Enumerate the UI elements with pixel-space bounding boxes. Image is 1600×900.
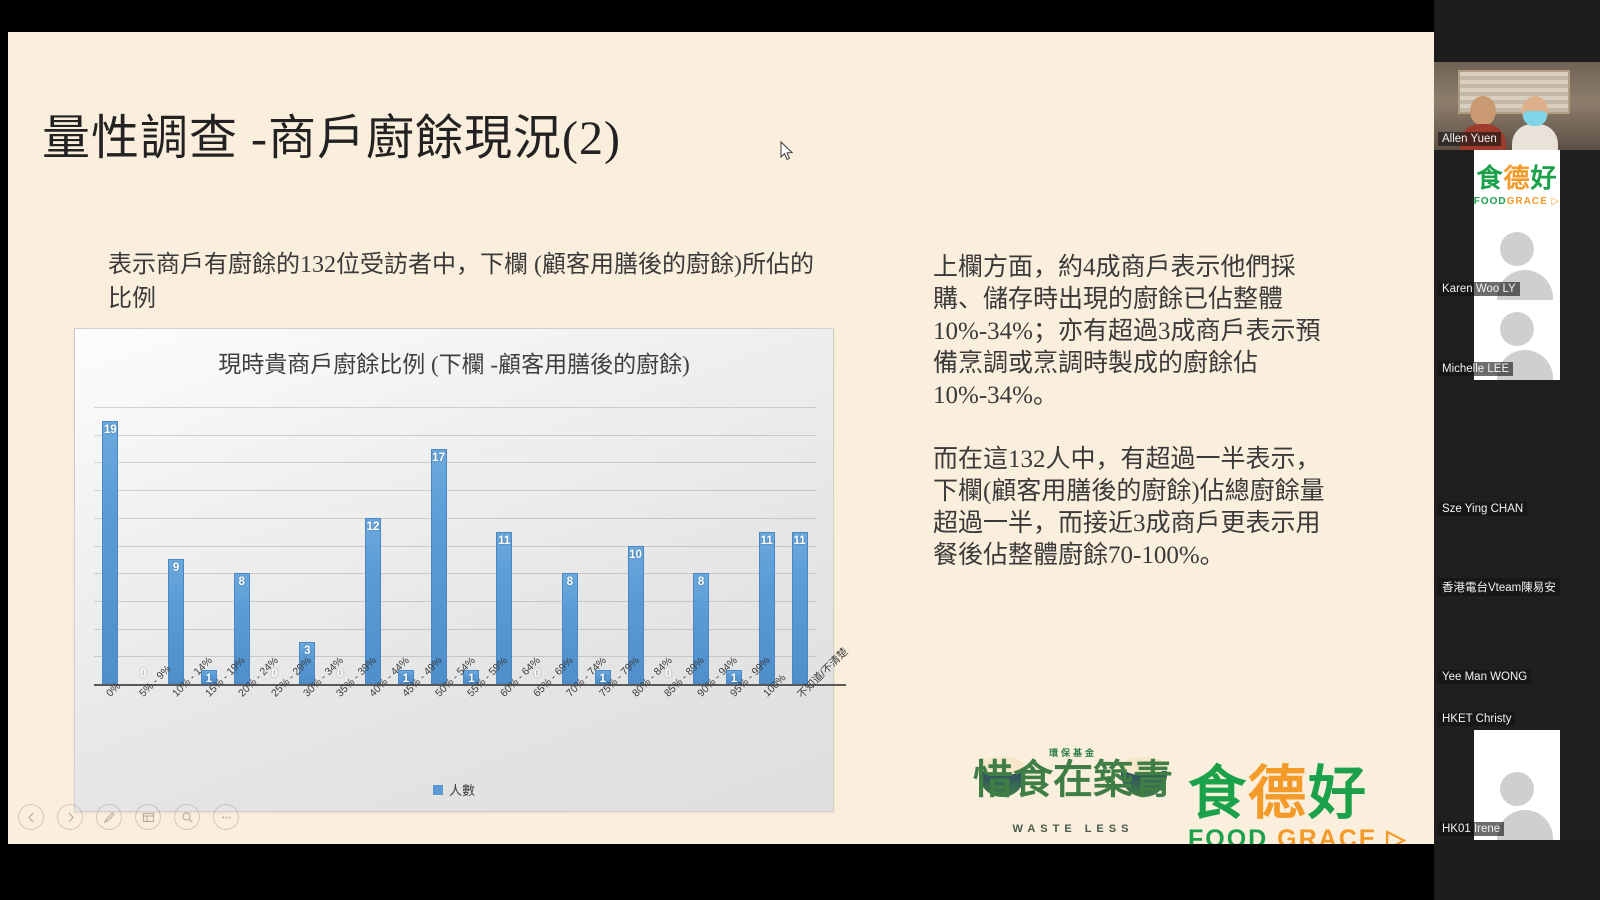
- left-intro-text: 表示商戶有廚餘的132位受訪者中，下欄 (顧客用膳後的廚餘)所佔的比例: [108, 248, 828, 316]
- chart-gridline: [94, 407, 816, 408]
- participant-tile[interactable]: HK01 Irene: [1434, 730, 1600, 840]
- food-grace-mark-icon: ▷: [1386, 825, 1407, 844]
- right-paragraph-1: 上欄方面，約4成商戶表示他們採購、儲存時出現的廚餘已佔整體10%-34%；亦有超…: [933, 252, 1333, 412]
- waste-less-logo-zh: 惜食在築青: [973, 759, 1173, 801]
- chart-bar-value: 19: [95, 424, 125, 436]
- more-options-button[interactable]: [213, 804, 239, 830]
- food-grace-en-food: FOOD: [1188, 825, 1268, 844]
- chart-bar-value: 12: [358, 521, 388, 533]
- chart-gridline: [94, 462, 816, 463]
- food-grace-logo-zh: 食德好: [1188, 762, 1434, 824]
- chart-bar: [102, 421, 118, 684]
- chart-gridline: [94, 518, 816, 519]
- participant-name: HK01 Irene: [1438, 822, 1504, 836]
- participant-name: 香港電台Vteam陳易安: [1438, 578, 1560, 596]
- presentation-slide[interactable]: 量性調查 -商戶廚餘現況(2) 表示商戶有廚餘的132位受訪者中，下欄 (顧客用…: [8, 32, 1434, 844]
- legend-label: 人數: [449, 780, 475, 799]
- chart-bar-value: 11: [785, 535, 815, 547]
- chart-gridline: [94, 490, 816, 491]
- right-paragraph-2: 而在這132人中，有超過一半表示，下欄(顧客用膳後的廚餘)佔總廚餘量超過一半，而…: [933, 444, 1333, 572]
- chart-plot-area: 19091803012117111081100811111: [94, 407, 816, 684]
- chart-bar-value: 10: [621, 549, 651, 561]
- slide-thumbnails-button[interactable]: [135, 804, 161, 830]
- chart-bar-value: 8: [686, 576, 716, 588]
- annotate-button[interactable]: [96, 804, 122, 830]
- participant-tile[interactable]: Michelle LEE: [1434, 300, 1600, 380]
- person-figure: [1512, 96, 1558, 150]
- waste-less-logo-en: WASTE LESS: [973, 823, 1173, 835]
- food-grace-logo: 食德好 FOOD GRACE ▷: [1188, 762, 1434, 844]
- chart-bar-value: 8: [227, 576, 257, 588]
- slideshow-toolbar[interactable]: [18, 804, 239, 830]
- chart-bar: [431, 449, 447, 684]
- chart-legend: 人數: [75, 780, 833, 799]
- participant-tile[interactable]: 食德好FOODGRACE ▷Karen Woo LY: [1434, 150, 1600, 300]
- mouse-cursor: [780, 141, 794, 161]
- food-grace-logo: 食德好FOODGRACE ▷: [1434, 158, 1600, 207]
- food-grace-logo-en: FOOD GRACE ▷: [1188, 824, 1434, 844]
- bar-chart: 現時貴商戶廚餘比例 (下欄 -顧客用膳後的廚餘) 190918030121171…: [74, 328, 834, 812]
- participant-name: Allen Yuen: [1438, 132, 1501, 146]
- food-grace-en-grace: GRACE: [1277, 825, 1377, 844]
- screen: 量性調查 -商戶廚餘現況(2) 表示商戶有廚餘的132位受訪者中，下欄 (顧客用…: [0, 0, 1600, 900]
- chart-gridline: [94, 435, 816, 436]
- participant-name: Sze Ying CHAN: [1438, 502, 1527, 516]
- participant-name: Michelle LEE: [1438, 362, 1513, 376]
- chart-bar-value: 11: [489, 535, 519, 547]
- participant-name: Yee Man WONG: [1438, 670, 1531, 684]
- participant-tile[interactable]: Sze Ying CHAN: [1434, 380, 1600, 520]
- chart-bar-value: 17: [424, 452, 454, 464]
- participant-tile[interactable]: HKET Christy: [1434, 688, 1600, 730]
- participant-tile[interactable]: Yee Man WONG: [1434, 600, 1600, 688]
- zoom-button[interactable]: [174, 804, 200, 830]
- participant-name: HKET Christy: [1438, 712, 1515, 726]
- participant-tile[interactable]: 香港電台Vteam陳易安: [1434, 520, 1600, 600]
- chart-bar-value: 3: [292, 645, 322, 657]
- participant-video-strip[interactable]: Allen Yuen食德好FOODGRACE ▷Karen Woo LYMich…: [1434, 0, 1600, 900]
- chart-gridline: [94, 546, 816, 547]
- chart-title: 現時貴商戶廚餘比例 (下欄 -顧客用膳後的廚餘): [75, 345, 833, 379]
- legend-swatch: [433, 785, 443, 795]
- page-title: 量性調查 -商戶廚餘現況(2): [42, 98, 621, 168]
- chart-bar-value: 11: [752, 535, 782, 547]
- chart-bar: [792, 532, 808, 684]
- participant-tile[interactable]: Allen Yuen: [1434, 62, 1600, 150]
- participant-name: Karen Woo LY: [1438, 282, 1520, 296]
- waste-less-logo: 環保基金 惜食在築青 WASTE LESS: [973, 746, 1173, 844]
- chart-bar: [168, 559, 184, 684]
- chart-bar-value: 8: [555, 576, 585, 588]
- next-slide-button[interactable]: [57, 804, 83, 830]
- chart-bar-value: 9: [161, 562, 191, 574]
- previous-slide-button[interactable]: [18, 804, 44, 830]
